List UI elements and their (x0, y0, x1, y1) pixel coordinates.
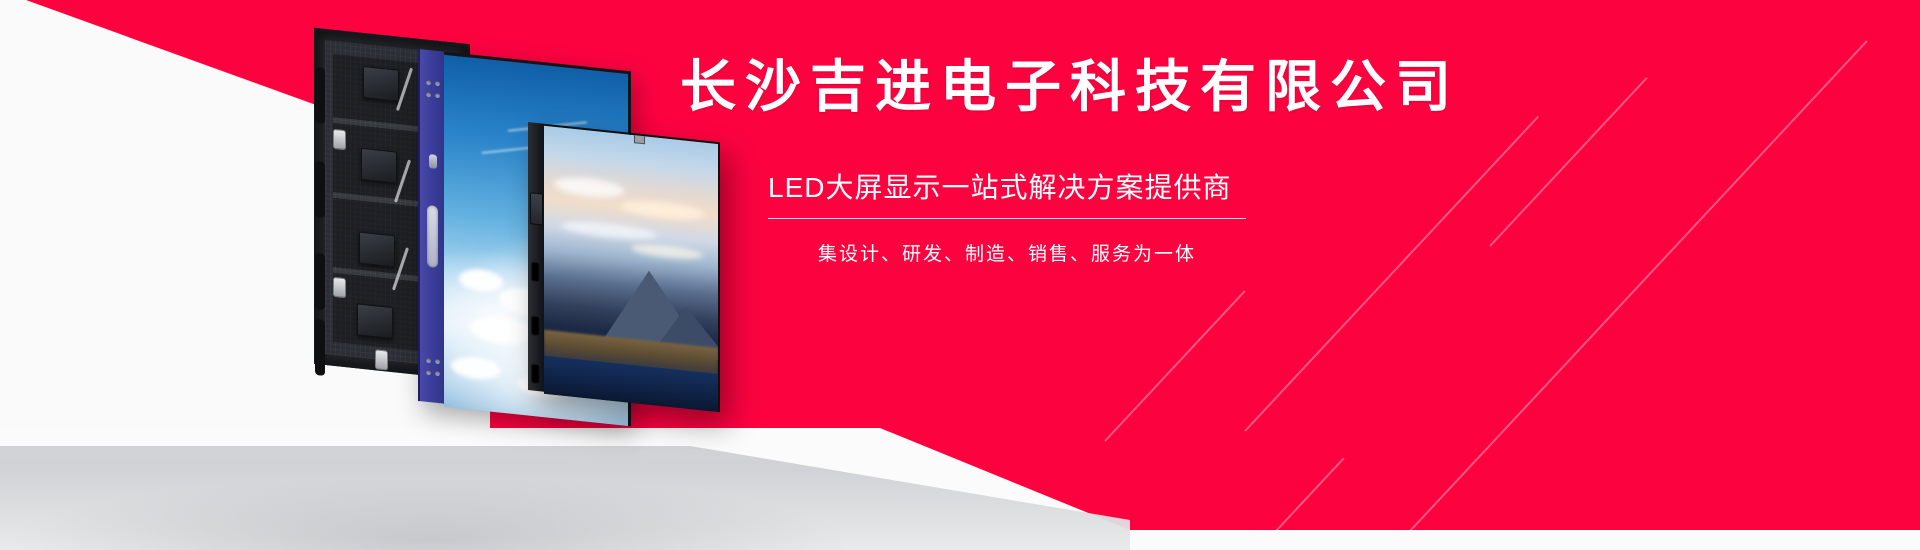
frame-stud (426, 80, 431, 86)
cloud-band (561, 219, 657, 243)
cloud-puff (470, 314, 532, 347)
power-supply-module (357, 303, 393, 339)
cloud-puff (451, 355, 501, 382)
cabinet-black-side-frame (528, 122, 544, 392)
frame-latch (429, 154, 437, 169)
cloud-band (554, 175, 624, 200)
receiving-card-module (530, 192, 543, 225)
frame-stud (435, 93, 440, 99)
power-connector (333, 129, 346, 150)
frame-stud (426, 370, 431, 376)
cabinet-side-rail (315, 67, 325, 124)
banner-subtitle: LED大屏显示一站式解决方案提供商 (768, 170, 1248, 206)
power-supply-module (363, 66, 399, 102)
banner-tagline: 集设计、研发、制造、销售、服务为一体 (768, 239, 1246, 266)
frame-stud (426, 358, 431, 364)
cabinet-side-rail (315, 319, 325, 376)
cloud-puff (459, 267, 503, 294)
cloud-wisp (481, 147, 532, 154)
cabinet-handle (427, 205, 438, 268)
frame-stud (435, 81, 440, 87)
power-supply-module (361, 148, 397, 184)
cabinet-top-fastener (634, 134, 645, 144)
cabinet-side-rail (315, 161, 325, 218)
frame-stud (435, 371, 440, 377)
frame-stud (435, 359, 440, 365)
promo-banner: 长沙吉进电子科技有限公司 LED大屏显示一站式解决方案提供商 集设计、研发、制造… (0, 0, 1920, 550)
frame-stud (426, 92, 431, 98)
led-display-product-group (300, 28, 740, 428)
cabinet-blue-side-frame (418, 49, 446, 404)
cabinet-port (531, 315, 540, 336)
page-title: 长沙吉进电子科技有限公司 (680, 52, 1780, 122)
power-connector (333, 277, 346, 298)
cabinet-side-rail (315, 253, 325, 310)
power-supply-module (359, 232, 395, 268)
power-connector (375, 349, 388, 370)
subtitle-group: LED大屏显示一站式解决方案提供商 集设计、研发、制造、销售、服务为一体 (768, 170, 1248, 266)
banner-text-block: 长沙吉进电子科技有限公司 LED大屏显示一站式解决方案提供商 集设计、研发、制造… (680, 52, 1780, 266)
subtitle-divider (768, 218, 1246, 219)
cabinet-port (531, 262, 540, 283)
cabinet-port (531, 364, 540, 385)
